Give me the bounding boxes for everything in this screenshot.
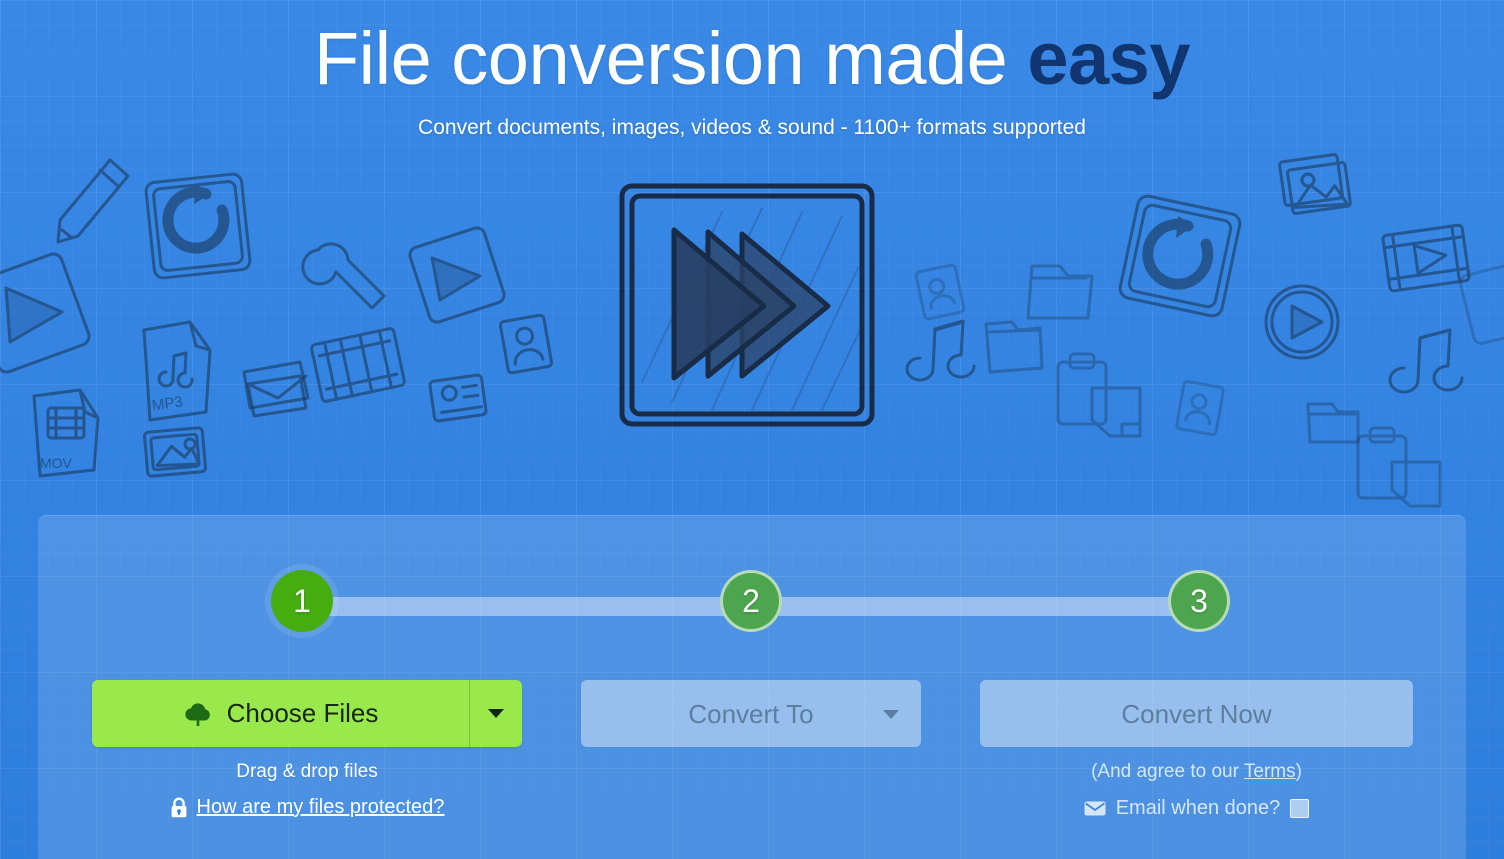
choose-files-label: Choose Files (227, 698, 379, 729)
step-number-2: 2 (742, 583, 760, 620)
step-2-column: Convert To (581, 680, 921, 747)
contact-card-icon (1176, 381, 1224, 435)
terms-suffix: ) (1296, 761, 1302, 782)
step-indicator-2: 2 (720, 570, 782, 632)
hero-section: File conversion made easy Convert docume… (0, 0, 1504, 140)
email-when-done-label: Email when done? (1116, 797, 1281, 820)
terms-prefix: (And agree to our (1091, 761, 1244, 782)
convert-now-label: Convert Now (1121, 701, 1271, 727)
mp3-file-icon: MP3 (144, 322, 210, 420)
contact-card-icon (500, 315, 552, 374)
envelope-icon (248, 376, 306, 416)
envelope-icon (244, 362, 308, 408)
svg-text:MP3: MP3 (151, 393, 184, 414)
action-row: Choose Files Drag & drop files (38, 680, 1466, 859)
step-indicator-3: 3 (1168, 570, 1230, 632)
terms-notice: (And agree to our Terms) (980, 761, 1413, 783)
play-circle-icon (1266, 286, 1338, 358)
email-when-done-checkbox[interactable] (1290, 799, 1309, 818)
pencil-icon (58, 160, 128, 242)
play-square-icon (408, 226, 506, 324)
sketch-fast-forward-icon (612, 172, 882, 442)
mov-file-icon: MOV (34, 390, 98, 476)
refresh-square-icon (1118, 194, 1241, 317)
files-protected-link[interactable]: How are my files protected? (197, 796, 445, 819)
photo-stack-icon (1279, 154, 1351, 214)
page-title: File conversion made easy (0, 0, 1504, 96)
step-progress: 1 2 3 (38, 562, 1466, 662)
svg-text:MOV: MOV (40, 455, 73, 471)
conversion-panel: 1 2 3 (38, 515, 1466, 859)
step-3-column: Convert Now (And agree to our Terms) Ema… (980, 680, 1413, 820)
page-subtitle: Convert documents, images, videos & soun… (0, 116, 1504, 140)
folder-icon (1028, 266, 1092, 318)
convert-to-label: Convert To (688, 701, 813, 727)
clipboard-icon (1358, 428, 1440, 506)
music-note-icon (907, 321, 974, 380)
step-indicator-1: 1 (271, 570, 333, 632)
lock-icon (170, 797, 188, 818)
headline-main: File conversion made (314, 17, 1027, 100)
film-strip-icon (311, 328, 405, 402)
convert-to-select[interactable]: Convert To (581, 680, 921, 747)
choose-files-dropdown-button[interactable] (470, 680, 522, 747)
image-icon (144, 428, 206, 477)
folder-icon (986, 322, 1042, 372)
files-protected-row[interactable]: How are my files protected? (92, 796, 522, 819)
music-note-icon (1390, 330, 1462, 392)
wrench-icon (303, 244, 384, 308)
contact-card-icon (429, 375, 486, 422)
headline-accent: easy (1027, 17, 1190, 100)
play-square-icon (1459, 260, 1504, 345)
page-root: MP3 MOV (0, 0, 1504, 859)
envelope-icon (1084, 801, 1106, 816)
film-strip-icon (1382, 225, 1469, 292)
chevron-down-icon (883, 710, 899, 719)
step-number-1: 1 (293, 583, 311, 620)
folder-icon (1308, 404, 1358, 442)
chevron-down-icon (488, 709, 504, 718)
step-number-3: 3 (1190, 583, 1208, 620)
choose-files-button[interactable]: Choose Files (92, 680, 470, 747)
drag-drop-hint: Drag & drop files (92, 761, 522, 783)
play-square-icon (0, 251, 92, 374)
clipboard-icon (1058, 354, 1140, 436)
contact-card-icon (915, 264, 964, 319)
cloud-upload-icon (183, 701, 213, 727)
choose-files-group[interactable]: Choose Files (92, 680, 522, 747)
refresh-square-icon (145, 173, 251, 279)
convert-now-button[interactable]: Convert Now (980, 680, 1413, 747)
step-1-column: Choose Files Drag & drop files (92, 680, 522, 819)
email-when-done-row[interactable]: Email when done? (980, 797, 1413, 820)
terms-link[interactable]: Terms (1244, 761, 1296, 782)
